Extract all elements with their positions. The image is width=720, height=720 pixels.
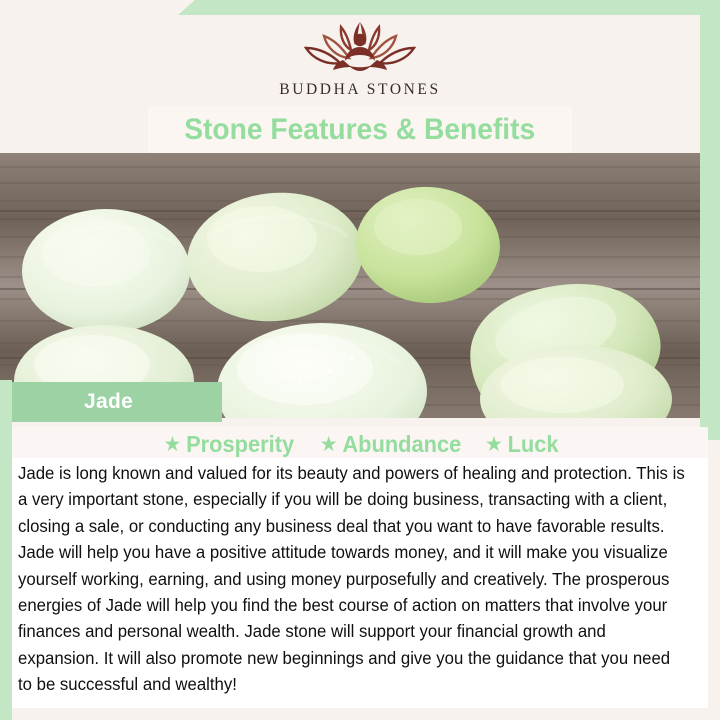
benefit-item-luck: ★ Luck <box>485 431 559 458</box>
description-text: Jade is long known and valued for its be… <box>18 460 685 698</box>
jade-stones-illustration <box>0 153 700 418</box>
brand-name: BUDDHA STONES <box>279 81 440 99</box>
title-banner: Stone Features & Benefits <box>148 106 572 153</box>
benefit-item-abundance: ★ Abundance <box>319 431 461 458</box>
benefits-row: ★ Prosperity ★ Abundance ★ Luck <box>12 427 708 461</box>
stone-name-badge: Jade <box>12 382 222 422</box>
benefit-label: Prosperity <box>186 431 294 458</box>
stone-name: Jade <box>84 390 133 414</box>
page-title: Stone Features & Benefits <box>184 113 535 147</box>
star-icon: ★ <box>163 434 181 455</box>
frame-accent-top <box>0 0 720 15</box>
description-block: Jade is long known and valued for its be… <box>12 458 708 708</box>
star-icon: ★ <box>319 434 337 455</box>
lotus-meditation-icon <box>294 16 426 78</box>
stone-feature-card: BUDDHA STONES Stone Features & Benefits <box>0 0 720 720</box>
frame-accent-left <box>0 400 12 720</box>
benefit-label: Luck <box>507 431 558 458</box>
benefit-item-prosperity: ★ Prosperity <box>163 431 294 458</box>
benefit-label: Abundance <box>342 431 461 458</box>
star-icon: ★ <box>485 434 503 455</box>
stone-photo <box>0 153 700 418</box>
brand-logo: BUDDHA STONES <box>0 16 720 106</box>
